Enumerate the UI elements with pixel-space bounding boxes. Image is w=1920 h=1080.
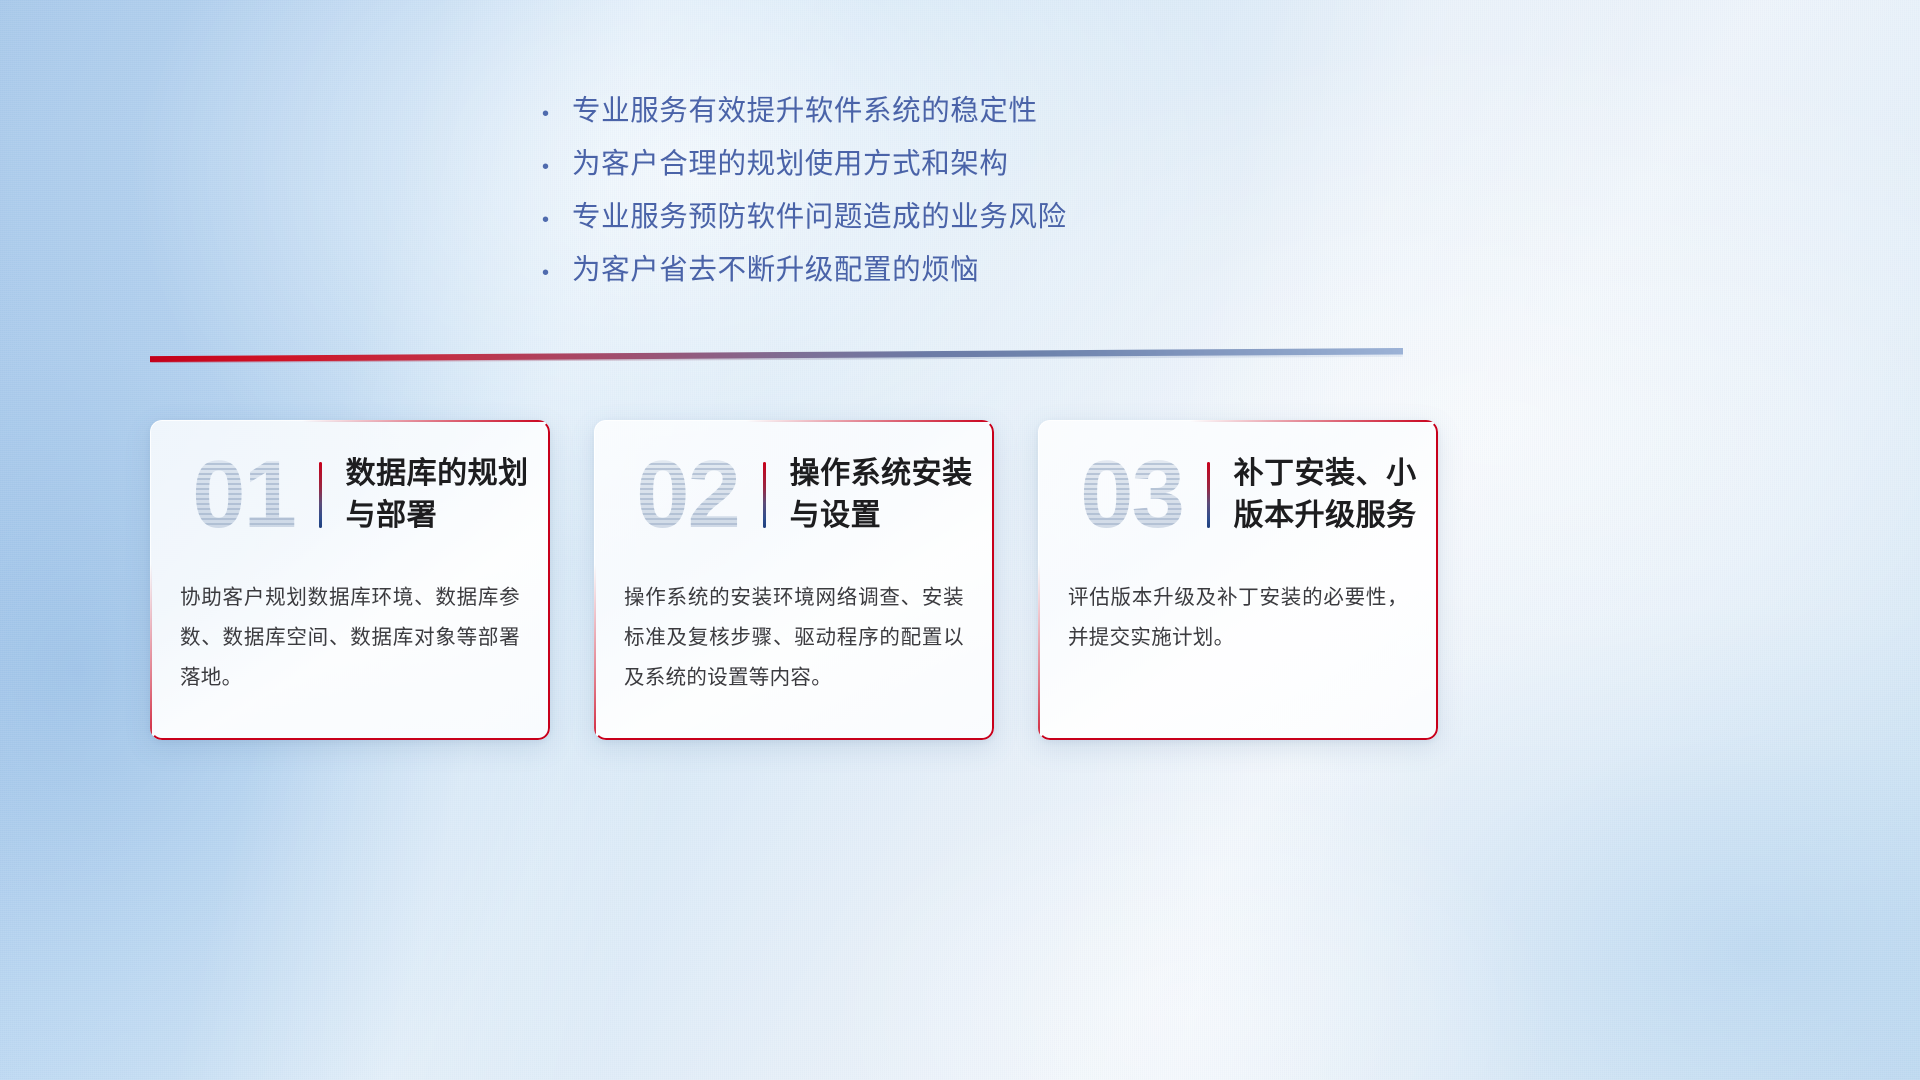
bullet-text: 为客户合理的规划使用方式和架构 bbox=[572, 141, 1009, 182]
card-title-divider-bar bbox=[1207, 462, 1210, 528]
bullet-marker-icon: • bbox=[536, 104, 572, 124]
benefits-bullet-list: • 专业服务有效提升软件系统的稳定性 • 为客户合理的规划使用方式和架构 • 专… bbox=[536, 88, 1256, 300]
card-title-divider-bar bbox=[319, 462, 322, 528]
card-header: 01 数据库的规划与部署 bbox=[150, 420, 550, 570]
card-header: 02 操作系统安装与设置 bbox=[594, 420, 994, 570]
card-body-text: 协助客户规划数据库环境、数据库参数、数据库空间、数据库对象等部署落地。 bbox=[180, 578, 520, 698]
section-divider bbox=[150, 348, 1403, 362]
bullet-text: 专业服务预防软件问题造成的业务风险 bbox=[572, 194, 1067, 235]
bullet-item: • 为客户合理的规划使用方式和架构 bbox=[536, 141, 1256, 194]
service-card[interactable]: 03 补丁安装、小版本升级服务 评估版本升级及补丁安装的必要性，并提交实施计划。 bbox=[1038, 420, 1438, 740]
card-body-text: 评估版本升级及补丁安装的必要性，并提交实施计划。 bbox=[1068, 578, 1408, 658]
card-header: 03 补丁安装、小版本升级服务 bbox=[1038, 420, 1438, 570]
bullet-text: 专业服务有效提升软件系统的稳定性 bbox=[572, 88, 1038, 129]
bullet-text: 为客户省去不断升级配置的烦恼 bbox=[572, 247, 979, 288]
card-accent-left-edge bbox=[1038, 564, 1040, 740]
bullet-marker-icon: • bbox=[536, 263, 572, 283]
bullet-item: • 专业服务有效提升软件系统的稳定性 bbox=[536, 88, 1256, 141]
bullet-item: • 专业服务预防软件问题造成的业务风险 bbox=[536, 194, 1256, 247]
bullet-marker-icon: • bbox=[536, 157, 572, 177]
card-title: 操作系统安装与设置 bbox=[790, 453, 994, 537]
card-accent-left-edge bbox=[594, 564, 596, 740]
card-accent-left-edge bbox=[150, 564, 152, 740]
card-number-watermark: 03 bbox=[1064, 443, 1199, 547]
card-title-divider-bar bbox=[763, 462, 766, 528]
card-title: 补丁安装、小版本升级服务 bbox=[1234, 453, 1438, 537]
service-card[interactable]: 01 数据库的规划与部署 协助客户规划数据库环境、数据库参数、数据库空间、数据库… bbox=[150, 420, 550, 740]
service-card-list: 01 数据库的规划与部署 协助客户规划数据库环境、数据库参数、数据库空间、数据库… bbox=[150, 420, 1438, 740]
card-number-watermark: 02 bbox=[620, 443, 755, 547]
bullet-item: • 为客户省去不断升级配置的烦恼 bbox=[536, 247, 1256, 300]
service-card[interactable]: 02 操作系统安装与设置 操作系统的安装环境网络调查、安装标准及复核步骤、驱动程… bbox=[594, 420, 994, 740]
card-number-watermark: 01 bbox=[176, 443, 311, 547]
card-body-text: 操作系统的安装环境网络调查、安装标准及复核步骤、驱动程序的配置以及系统的设置等内… bbox=[624, 578, 964, 698]
card-title: 数据库的规划与部署 bbox=[346, 453, 550, 537]
bullet-marker-icon: • bbox=[536, 210, 572, 230]
